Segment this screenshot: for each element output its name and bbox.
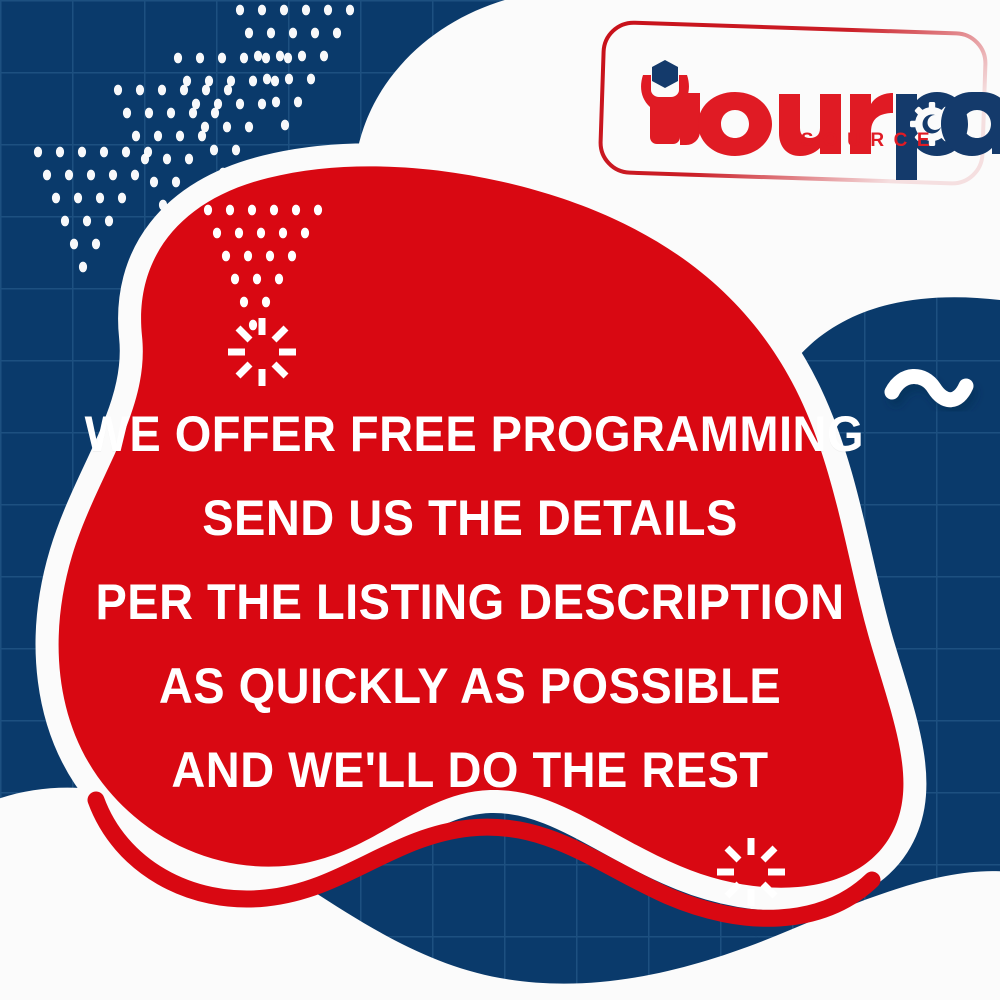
hex-nut-icon [652, 60, 678, 88]
logo-tagline: SOURCE [801, 130, 939, 151]
logo-word-part-art [941, 70, 1000, 156]
poster-canvas: SOURCE WE OFFER FREE PROGRAMMING SEND US… [0, 0, 1000, 1000]
logo-badge-layer[interactable]: SOURCE [0, 0, 1000, 1000]
